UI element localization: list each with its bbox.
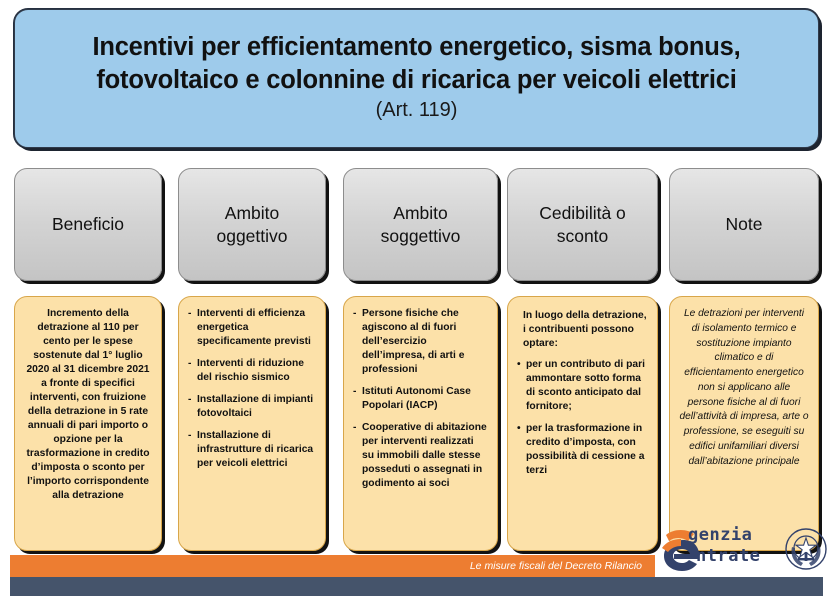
column-header-note: Note bbox=[669, 168, 819, 281]
list-item-label: Cooperative di abitazione per interventi… bbox=[362, 422, 487, 489]
bullet-marker-icon: • bbox=[517, 358, 521, 372]
cedibilita-intro-text: In luogo della detrazione, i contribuent… bbox=[523, 309, 648, 351]
beneficio-paragraph: Incremento della detrazione al 110 per c… bbox=[24, 307, 152, 503]
list-item-label: Persone fisiche che agiscono al di fuori… bbox=[362, 308, 464, 375]
agenzia-entrate-logo: genzia ntrate bbox=[660, 524, 828, 576]
list-item-label: Installazione di infrastrutture di ricar… bbox=[197, 430, 313, 469]
content-box-note: Le detrazioni per interventi di isolamen… bbox=[669, 296, 819, 551]
agenzia-entrate-wordmark: genzia ntrate bbox=[688, 525, 760, 567]
dash-marker-icon: - bbox=[188, 393, 191, 407]
column-header-row: Beneficio Ambito oggettivo Ambito sogget… bbox=[14, 168, 819, 281]
ambito-soggettivo-list: -Persone fisiche che agiscono al di fuor… bbox=[353, 307, 488, 491]
list-item-label: per la trasformazione in credito d’impos… bbox=[526, 423, 644, 476]
list-item-label: Interventi di efficienza energetica spec… bbox=[197, 308, 311, 347]
content-row: Incremento della detrazione al 110 per c… bbox=[14, 296, 819, 551]
list-item: -Interventi di riduzione del rischio sis… bbox=[188, 357, 316, 385]
column-header-cedibilita-sconto: Cedibilità o sconto bbox=[507, 168, 658, 281]
list-item-label: Installazione di impianti fotovoltaici bbox=[197, 394, 313, 419]
page-title: Incentivi per efficientamento energetico… bbox=[33, 31, 800, 95]
logo-line-one: genzia bbox=[688, 525, 760, 546]
footer-caption: Le misure fiscali del Decreto Rilancio bbox=[470, 560, 642, 572]
list-item: -Installazione di impianti fotovoltaici bbox=[188, 393, 316, 421]
content-box-ambito-soggettivo: -Persone fisiche che agiscono al di fuor… bbox=[343, 296, 498, 551]
slide-canvas: Incentivi per efficientamento energetico… bbox=[0, 0, 833, 599]
list-item-label: Istituti Autonomi Case Popolari (IACP) bbox=[362, 386, 471, 411]
footer-blue-bar bbox=[10, 577, 823, 596]
note-paragraph: Le detrazioni per interventi di isolamen… bbox=[679, 307, 809, 470]
column-header-ambito-oggettivo: Ambito oggettivo bbox=[178, 168, 326, 281]
list-item-label: per un contributo di pari ammontare sott… bbox=[526, 359, 645, 412]
content-box-cedibilita-sconto: In luogo della detrazione, i contribuent… bbox=[507, 296, 658, 551]
bullet-marker-icon: • bbox=[517, 422, 521, 436]
logo-line-two: ntrate bbox=[696, 546, 760, 567]
ambito-oggettivo-list: -Interventi di efficienza energetica spe… bbox=[188, 307, 316, 471]
dash-marker-icon: - bbox=[188, 307, 191, 321]
footer-orange-bar: Le misure fiscali del Decreto Rilancio bbox=[10, 555, 655, 577]
dash-marker-icon: - bbox=[353, 385, 356, 399]
dash-marker-icon: - bbox=[353, 307, 356, 321]
content-box-beneficio: Incremento della detrazione al 110 per c… bbox=[14, 296, 162, 551]
list-item: -Interventi di efficienza energetica spe… bbox=[188, 307, 316, 349]
list-item: -Persone fisiche che agiscono al di fuor… bbox=[353, 307, 488, 377]
italian-republic-emblem-icon bbox=[784, 527, 828, 571]
list-item: -Istituti Autonomi Case Popolari (IACP) bbox=[353, 385, 488, 413]
list-item: •per la trasformazione in credito d’impo… bbox=[517, 422, 648, 478]
list-item: -Installazione di infrastrutture di rica… bbox=[188, 429, 316, 471]
page-title-article-reference: (Art. 119) bbox=[376, 99, 458, 122]
list-item: •per un contributo di pari ammontare sot… bbox=[517, 358, 648, 414]
list-item-label: Interventi di riduzione del rischio sism… bbox=[197, 358, 304, 383]
slide-title-banner: Incentivi per efficientamento energetico… bbox=[14, 9, 819, 148]
column-header-ambito-soggettivo: Ambito soggettivo bbox=[343, 168, 498, 281]
dash-marker-icon: - bbox=[188, 357, 191, 371]
cedibilita-list: •per un contributo di pari ammontare sot… bbox=[517, 358, 648, 478]
column-header-beneficio: Beneficio bbox=[14, 168, 162, 281]
list-item: -Cooperative di abitazione per intervent… bbox=[353, 421, 488, 491]
dash-marker-icon: - bbox=[353, 421, 356, 435]
dash-marker-icon: - bbox=[188, 429, 191, 443]
content-box-ambito-oggettivo: -Interventi di efficienza energetica spe… bbox=[178, 296, 326, 551]
